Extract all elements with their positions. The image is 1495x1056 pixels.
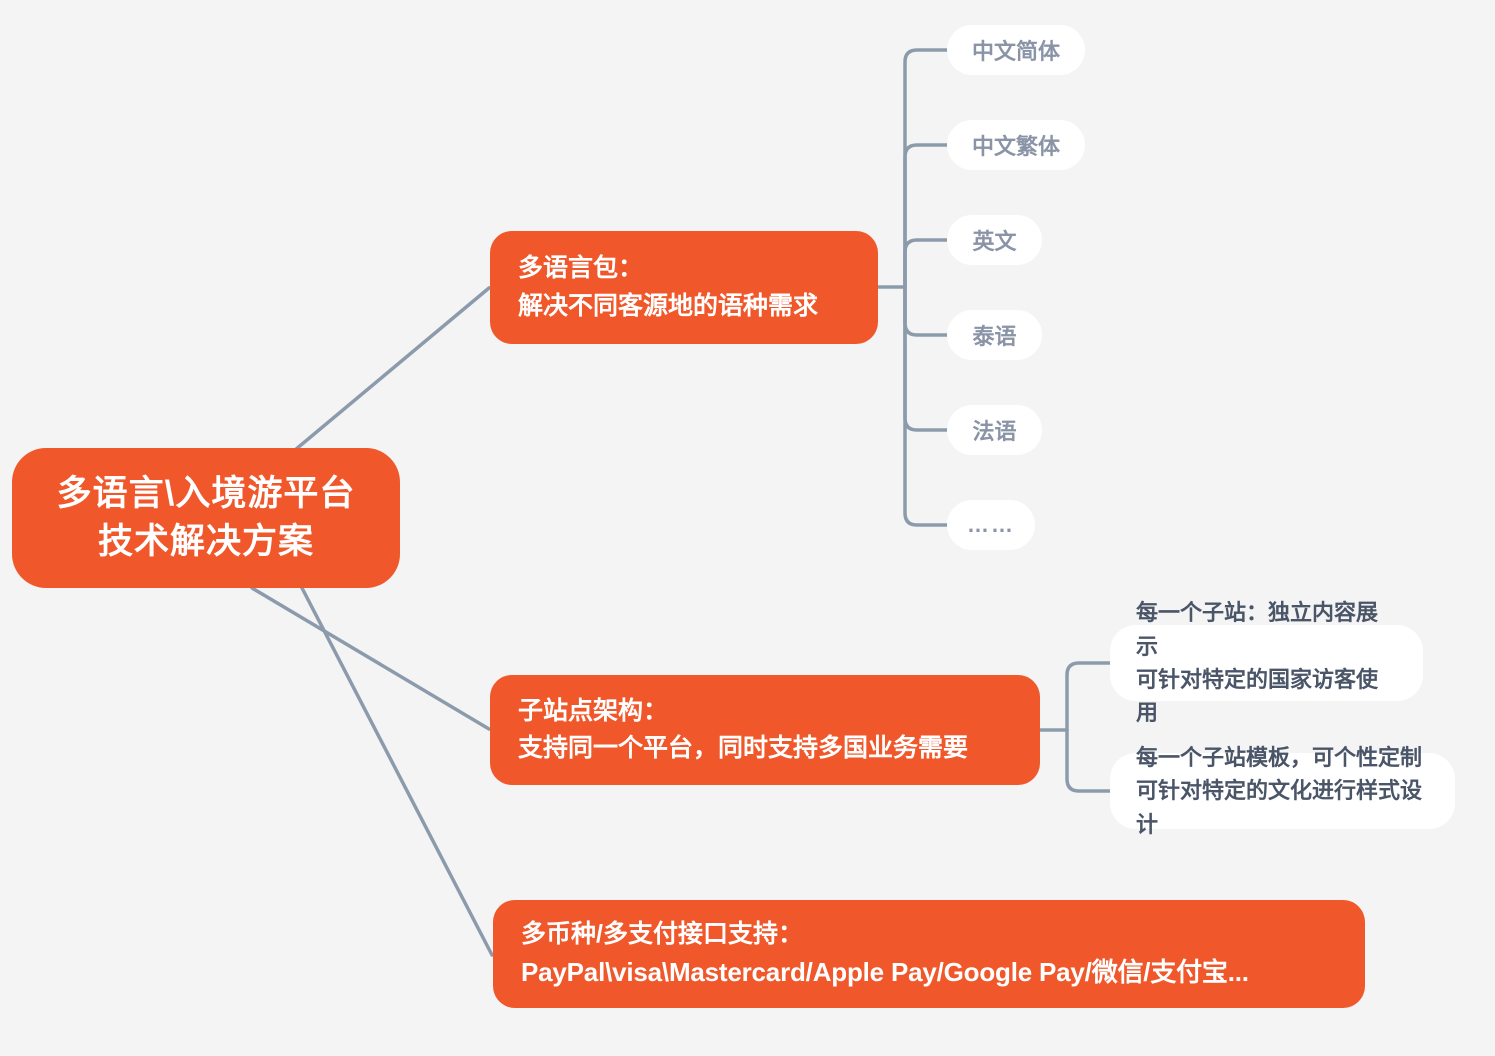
leaf-node-language-4[interactable]: 泰语 xyxy=(947,310,1042,360)
branch-node-language-pack[interactable]: 多语言包： 解决不同客源地的语种需求 xyxy=(490,231,878,344)
leaf-node-language-2[interactable]: 中文繁体 xyxy=(947,120,1085,170)
leaf-label: 中文繁体 xyxy=(972,129,1060,161)
edge-subsite-leaf-1 xyxy=(1067,663,1110,730)
branch-language-description: 解决不同客源地的语种需求 xyxy=(518,288,850,326)
root-node[interactable]: 多语言\入境游平台 技术解决方案 xyxy=(12,448,400,588)
branch-payment-description: PayPal\visa\Mastercard/Apple Pay/Google … xyxy=(521,953,1337,992)
edge-subsite-leaf-2 xyxy=(1067,730,1110,791)
leaf-label: 泰语 xyxy=(972,319,1016,351)
leaf-node-language-3[interactable]: 英文 xyxy=(947,215,1042,265)
edge-language-leaf-4 xyxy=(905,287,947,335)
leaf-node-subsite-2[interactable]: 每一个子站模板，可个性定制 可针对特定的文化进行样式设计 xyxy=(1110,753,1455,829)
leaf-card-line-2: 可针对特定的国家访客使用 xyxy=(1136,663,1397,730)
root-title-line-2: 技术解决方案 xyxy=(98,518,314,566)
branch-node-subsite-architecture[interactable]: 子站点架构： 支持同一个平台，同时支持多国业务需要 xyxy=(490,675,1040,785)
edge-language-leaf-3 xyxy=(905,240,947,287)
branch-payment-heading: 多币种/多支付接口支持： xyxy=(521,916,1337,954)
edge-root-to-payment xyxy=(302,588,492,955)
branch-subsite-heading: 子站点架构： xyxy=(518,693,1012,731)
leaf-node-language-1[interactable]: 中文简体 xyxy=(947,25,1085,75)
leaf-card-line-2: 可针对特定的文化进行样式设计 xyxy=(1136,774,1429,841)
leaf-node-language-6-ellipsis[interactable]: …… xyxy=(947,500,1035,550)
leaf-label: 英文 xyxy=(972,224,1016,256)
edge-root-to-subsite xyxy=(252,588,489,729)
edge-language-leaf-1 xyxy=(905,50,947,287)
leaf-node-subsite-1[interactable]: 每一个子站：独立内容展示 可针对特定的国家访客使用 xyxy=(1110,625,1423,701)
edge-language-leaf-5 xyxy=(905,287,947,430)
leaf-label: 中文简体 xyxy=(972,34,1060,66)
leaf-node-language-5[interactable]: 法语 xyxy=(947,405,1042,455)
edge-language-leaf-6 xyxy=(905,287,947,525)
root-title-line-1: 多语言\入境游平台 xyxy=(57,470,356,518)
leaf-card-line-1: 每一个子站：独立内容展示 xyxy=(1136,596,1397,663)
leaf-label: …… xyxy=(967,512,1015,538)
edge-root-to-language xyxy=(295,288,489,450)
leaf-label: 法语 xyxy=(972,414,1016,446)
branch-subsite-description: 支持同一个平台，同时支持多国业务需要 xyxy=(518,730,1012,768)
mindmap-canvas: 多语言\入境游平台 技术解决方案 多语言包： 解决不同客源地的语种需求 中文简体… xyxy=(0,0,1495,1056)
branch-node-payment-support[interactable]: 多币种/多支付接口支持： PayPal\visa\Mastercard/Appl… xyxy=(493,900,1365,1008)
edge-language-leaf-2 xyxy=(905,145,947,287)
leaf-card-line-1: 每一个子站模板，可个性定制 xyxy=(1136,741,1429,774)
branch-language-heading: 多语言包： xyxy=(518,250,850,288)
